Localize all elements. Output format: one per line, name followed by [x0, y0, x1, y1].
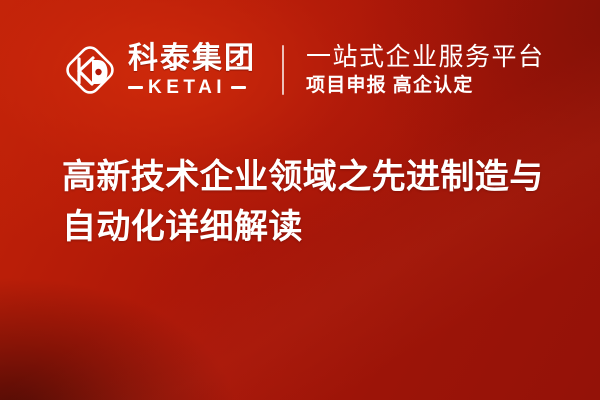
tagline-secondary: 项目申报 高企认定 [306, 76, 545, 97]
banner-headline: 高新技术企业领域之先进制造与自动化详细解读 [62, 152, 562, 252]
tagline-block: 一站式企业服务平台 项目申报 高企认定 [306, 44, 545, 97]
brand-logo[interactable]: 科泰集团 KETAI [62, 42, 256, 98]
logo-wordmark: 科泰集团 KETAI [128, 43, 256, 97]
vertical-divider [282, 45, 284, 95]
ketai-diamond-kd-monogram-icon [62, 42, 118, 98]
logo-dash-right-icon [231, 86, 246, 89]
tagline-primary: 一站式企业服务平台 [306, 44, 545, 71]
logo-dash-left-icon [128, 86, 143, 89]
logo-company-name-en: KETAI [148, 78, 226, 97]
logo-company-name-cn: 科泰集团 [128, 43, 256, 75]
banner-header: 科泰集团 KETAI 一站式企业服务平台 项目申报 高企认定 [62, 34, 545, 106]
promo-banner: 科泰集团 KETAI 一站式企业服务平台 项目申报 高企认定 高新技术企业领域之… [0, 0, 600, 400]
logo-english-row: KETAI [128, 78, 256, 97]
